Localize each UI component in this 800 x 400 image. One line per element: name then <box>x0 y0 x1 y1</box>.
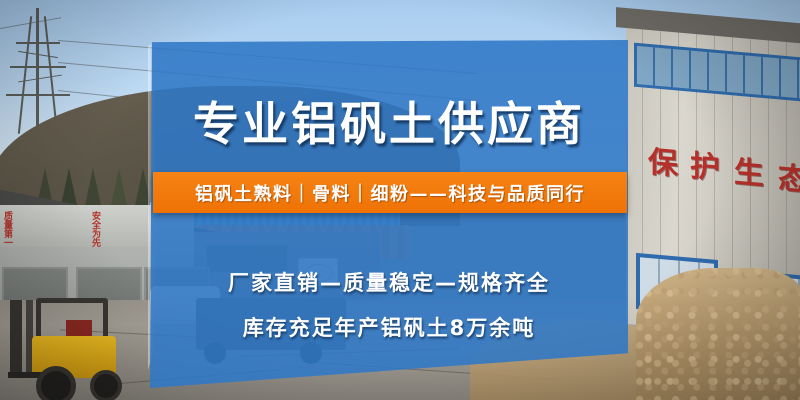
forklift-front-wheel <box>36 366 76 400</box>
aggregate-pile-1 <box>636 268 800 400</box>
forklift-rear-wheel <box>90 370 122 400</box>
warehouse-sign-right: 质量第一 <box>2 211 12 247</box>
page-title: 专业铝矾土供应商 <box>150 88 628 154</box>
clerestory-windows <box>634 43 800 103</box>
banner-image: 质量第一 安全为先 <box>0 0 800 400</box>
subline-two: 库存充足年产铝矾土8万余吨 <box>150 312 628 342</box>
forklift <box>6 300 122 396</box>
forklift-mast <box>10 300 22 378</box>
product-ribbon-text: 铝矾土熟料｜骨料｜细粉——科技与品质同行 <box>195 180 585 206</box>
product-ribbon: 铝矾土熟料｜骨料｜细粉——科技与品质同行 <box>153 172 627 213</box>
warehouse-sign-left: 安全为先 <box>90 211 100 247</box>
banner-content: 专业铝矾土供应商 铝矾土熟料｜骨料｜细粉——科技与品质同行 厂家直销—质量稳定—… <box>150 40 628 388</box>
subline-one: 厂家直销—质量稳定—规格齐全 <box>150 267 628 297</box>
